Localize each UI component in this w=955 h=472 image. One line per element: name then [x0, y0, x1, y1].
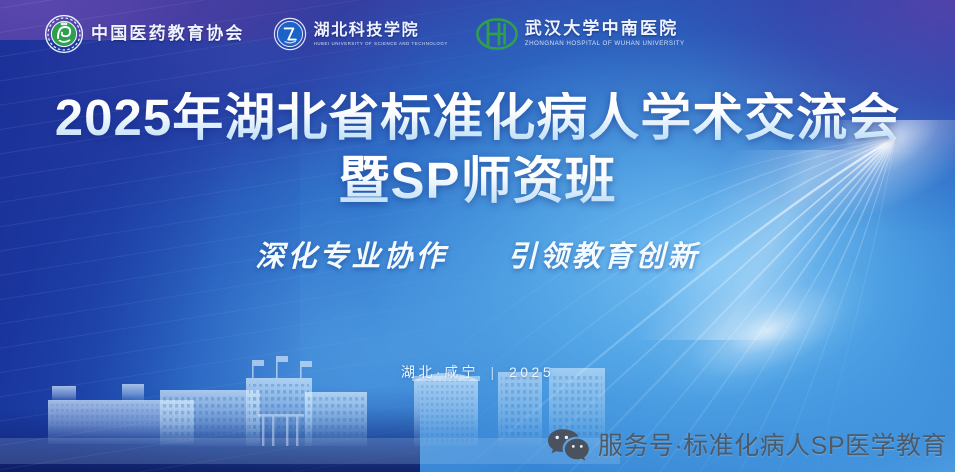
logo-name-en: ZHONGNAN HOSPITAL OF WUHAN UNIVERSITY — [525, 40, 685, 48]
emblem-icon — [476, 17, 518, 51]
title-line-2: 暨SP师资班 — [0, 155, 955, 206]
wechat-watermark: 服务号·标准化病人SP医学教育 — [547, 426, 947, 462]
wechat-icon — [547, 427, 589, 461]
year-label: 2025 — [509, 364, 554, 380]
logo-name-cn: 中国医药教育协会 — [91, 25, 245, 43]
logo-name-cn: 湖北科技学院 — [314, 22, 448, 39]
logo-name-cn: 武汉大学中南医院 — [525, 20, 685, 38]
logo-text-block: 中国医药教育协会 — [91, 25, 245, 43]
partner-logo-bar: 中国医药教育协会 湖北科技学院 HUBEI UNIVERSITY OF SCIE… — [44, 14, 685, 54]
logo-zhongnan-hospital-of-wuhan-university: 武汉大学中南医院 ZHONGNAN HOSPITAL OF WUHAN UNIV… — [476, 17, 685, 51]
logo-hubei-university-of-science-and-technology: 湖北科技学院 HUBEI UNIVERSITY OF SCIENCE AND T… — [273, 17, 448, 51]
slogan-right: 引领教育创新 — [508, 239, 700, 273]
emblem-icon — [273, 17, 307, 51]
slogan: 深化专业协作 引领教育创新 — [0, 233, 955, 275]
logo-text-block: 湖北科技学院 HUBEI UNIVERSITY OF SCIENCE AND T… — [314, 22, 448, 47]
slogan-left: 深化专业协作 — [255, 239, 447, 273]
emblem-icon — [44, 14, 84, 54]
watermark-text: 服务号·标准化病人SP医学教育 — [598, 426, 947, 462]
conference-banner: 中国医药教育协会 湖北科技学院 HUBEI UNIVERSITY OF SCIE… — [0, 0, 955, 472]
title-line-1: 2025年湖北省标准化病人学术交流会 — [0, 92, 955, 143]
place-and-date: 湖北·咸宁 | 2025 — [0, 362, 955, 382]
place-date-separator: | — [490, 364, 497, 380]
logo-name-en: HUBEI UNIVERSITY OF SCIENCE AND TECHNOLO… — [314, 41, 448, 47]
logo-text-block: 武汉大学中南医院 ZHONGNAN HOSPITAL OF WUHAN UNIV… — [525, 20, 685, 48]
place-label: 湖北·咸宁 — [401, 364, 479, 380]
title-block: 2025年湖北省标准化病人学术交流会 暨SP师资班 — [0, 92, 955, 206]
logo-china-medical-pharmaceutical-education-association: 中国医药教育协会 — [44, 14, 245, 54]
